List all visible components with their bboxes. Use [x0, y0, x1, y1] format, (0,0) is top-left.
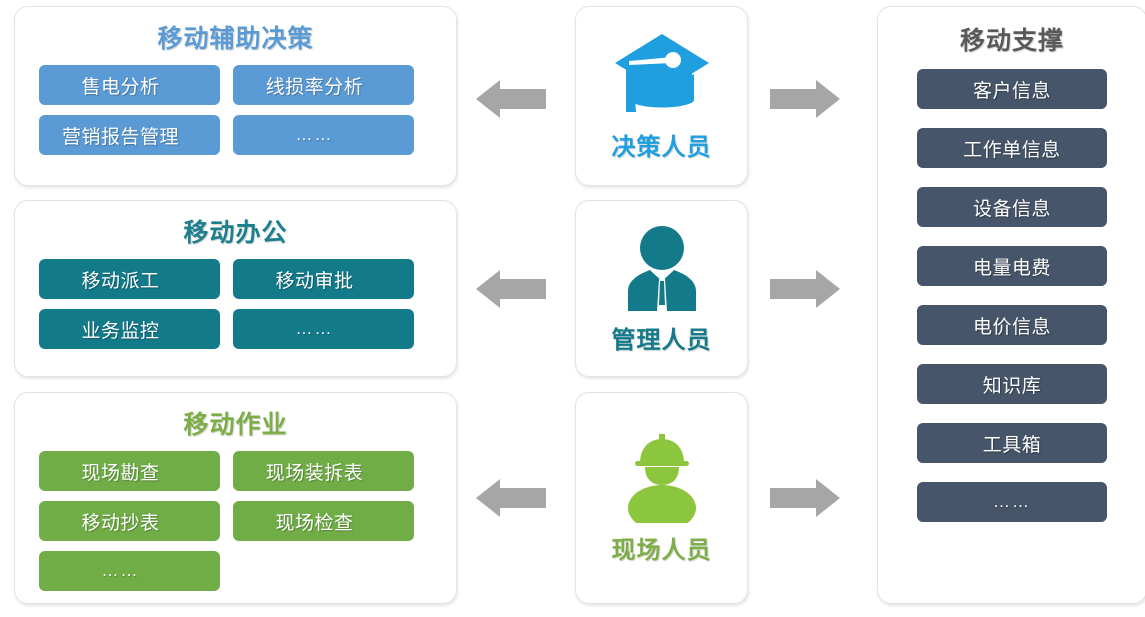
actor-card-field[interactable]: 现场人员: [575, 392, 748, 604]
support-item-3[interactable]: 电量电费: [917, 246, 1107, 286]
graduation-cap-icon: [610, 30, 714, 125]
actor-label-decision: 决策人员: [612, 127, 712, 162]
business-person-icon: [610, 223, 714, 318]
support-item-6[interactable]: 工具箱: [917, 423, 1107, 463]
support-panel: 移动支撑 客户信息 工作单信息 设备信息 电量电费 电价信息 知识库 工具箱 ……: [877, 6, 1145, 604]
chip-decision-1[interactable]: 线损率分析: [233, 65, 414, 105]
chip-office-3[interactable]: ……: [233, 309, 414, 349]
left-arrow-icon-field: [476, 479, 546, 517]
chip-field-3[interactable]: 现场检查: [233, 501, 414, 541]
group-panel-field: 移动作业 现场勘查 现场装拆表 移动抄表 现场检查 ……: [14, 392, 457, 604]
group-title-decision: 移动辅助决策: [15, 19, 456, 55]
left-arrow-icon-decision: [476, 80, 546, 118]
chip-grid-decision: 售电分析 线损率分析 营销报告管理 ……: [15, 65, 456, 155]
chip-office-2[interactable]: 业务监控: [39, 309, 220, 349]
actor-card-decision[interactable]: 决策人员: [575, 6, 748, 186]
actor-label-field: 现场人员: [612, 530, 712, 565]
chip-office-1[interactable]: 移动审批: [233, 259, 414, 299]
group-panel-decision: 移动辅助决策 售电分析 线损率分析 营销报告管理 ……: [14, 6, 457, 186]
chip-field-2[interactable]: 移动抄表: [39, 501, 220, 541]
chip-office-0[interactable]: 移动派工: [39, 259, 220, 299]
chip-decision-3[interactable]: ……: [233, 115, 414, 155]
actor-label-manager: 管理人员: [612, 320, 712, 355]
right-arrow-icon-office: [770, 270, 840, 308]
left-arrow-icon-office: [476, 270, 546, 308]
support-item-list: 客户信息 工作单信息 设备信息 电量电费 电价信息 知识库 工具箱 ……: [878, 69, 1145, 522]
support-item-4[interactable]: 电价信息: [917, 305, 1107, 345]
chip-grid-field: 现场勘查 现场装拆表 移动抄表 现场检查 ……: [15, 451, 456, 591]
hard-hat-worker-icon: [610, 431, 714, 528]
chip-field-0[interactable]: 现场勘查: [39, 451, 220, 491]
group-title-office: 移动办公: [15, 213, 456, 249]
chip-grid-office: 移动派工 移动审批 业务监控 ……: [15, 259, 456, 349]
actor-card-manager[interactable]: 管理人员: [575, 200, 748, 377]
support-panel-title: 移动支撑: [878, 21, 1145, 57]
support-item-2[interactable]: 设备信息: [917, 187, 1107, 227]
chip-decision-0[interactable]: 售电分析: [39, 65, 220, 105]
group-title-field: 移动作业: [15, 405, 456, 441]
chip-field-4[interactable]: ……: [39, 551, 220, 591]
right-arrow-icon-decision: [770, 80, 840, 118]
chip-decision-2[interactable]: 营销报告管理: [39, 115, 220, 155]
group-panel-office: 移动办公 移动派工 移动审批 业务监控 ……: [14, 200, 457, 377]
support-item-1[interactable]: 工作单信息: [917, 128, 1107, 168]
support-item-7[interactable]: ……: [917, 482, 1107, 522]
chip-field-1[interactable]: 现场装拆表: [233, 451, 414, 491]
right-arrow-icon-field: [770, 479, 840, 517]
support-item-5[interactable]: 知识库: [917, 364, 1107, 404]
support-item-0[interactable]: 客户信息: [917, 69, 1107, 109]
